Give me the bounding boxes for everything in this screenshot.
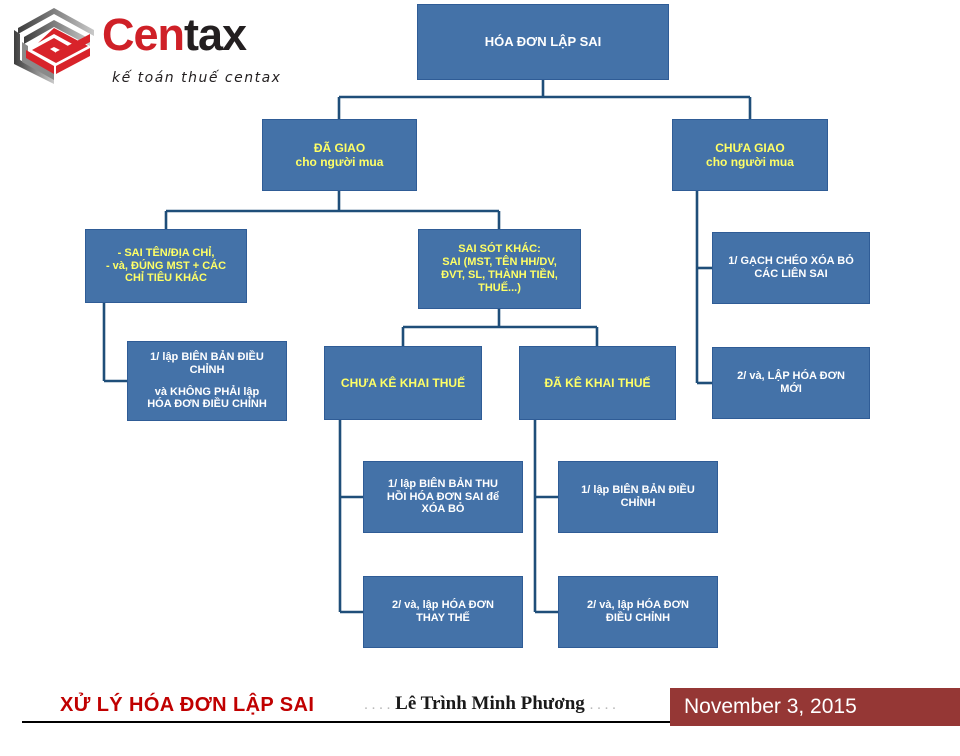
footer-title: XỬ LÝ HÓA ĐƠN LẬP SAI [60,694,314,717]
node-text-line: CHƯA GIAO [677,141,823,155]
node-text-line: HỒI HÓA ĐƠN SAI để [368,491,518,504]
node-text-line: MỚI [717,383,865,396]
node-text-line: HÓA ĐƠN ĐIỀU CHỈNH [132,398,282,411]
node-hoa-don-thay-the: 2/ và, lập HÓA ĐƠNTHAY THẾ [363,576,523,648]
node-text-line: ĐÃ KÊ KHAI THUẾ [524,376,671,390]
node-sai-ten-dia-chi: - SAI TÊN/ĐỊA CHỈ,- và, ĐÚNG MST + CÁCCH… [85,229,247,303]
node-text-line: 2/ và, lập HÓA ĐƠN [563,599,713,612]
node-text-line: ĐIỀU CHỈNH [563,612,713,625]
footer-date-badge: November 3, 2015 [670,688,960,726]
node-text-line: XÓA BỎ [368,503,518,516]
node-da-ke-khai-thue: ĐÃ KÊ KHAI THUẾ [519,346,676,420]
node-bien-ban-dieu-chinh: 1/ lập BIÊN BẢN ĐIỀUCHỈNH [558,461,718,533]
node-text-line: và KHÔNG PHẢI lập [132,386,282,399]
node-chua-giao: CHƯA GIAOcho người mua [672,119,828,191]
node-text-line: cho người mua [677,155,823,169]
node-text-line: 1/ GẠCH CHÉO XÓA BỎ [717,255,865,268]
node-text-line: THUẾ...) [423,282,576,295]
node-text-line: 2/ và, lập HÓA ĐƠN [368,599,518,612]
node-chua-ke-khai-thue: CHƯA KÊ KHAI THUẾ [324,346,482,420]
node-da-giao: ĐÃ GIAOcho người mua [262,119,417,191]
node-bien-ban-thu-hoi-hoa-don-sai: 1/ lập BIÊN BẢN THUHỒI HÓA ĐƠN SAI đểXÓA… [363,461,523,533]
node-text-line: SAI (MST, TÊN HH/DV, [423,256,576,269]
node-text-line: - và, ĐÚNG MST + CÁC [90,260,242,273]
footer-dots-left: . . . . [364,697,390,713]
node-gach-cheo-xoa-bo: 1/ GẠCH CHÉO XÓA BỎCÁC LIÊN SAI [712,232,870,304]
footer-author-name: Lê Trình Minh Phương [395,693,585,714]
node-text-line: CHỈNH [132,364,282,377]
node-text-line: 1/ lập BIÊN BẢN ĐIỀU [563,484,713,497]
node-text-line: ĐÃ GIAO [267,141,412,155]
footer-dots-right: . . . . [590,697,616,713]
node-text-line: 1/ lập BIÊN BẢN THU [368,478,518,491]
footer-author: . . . . Lê Trình Minh Phương . . . . [340,693,640,715]
node-text-line: THAY THẾ [368,612,518,625]
node-bien-ban-dieu-chinh-khong-phai-lap: 1/ lập BIÊN BẢN ĐIỀUCHỈNHvà KHÔNG PHẢI l… [127,341,287,421]
node-hoa-don-lap-sai: HÓA ĐƠN LẬP SAI [417,4,669,80]
node-text-line: 2/ và, LẬP HÓA ĐƠN [717,370,865,383]
node-text-line: ĐVT, SL, THÀNH TIỀN, [423,269,576,282]
node-text-line: HÓA ĐƠN LẬP SAI [422,34,664,49]
node-lap-hoa-don-moi: 2/ và, LẬP HÓA ĐƠNMỚI [712,347,870,419]
node-hoa-don-dieu-chinh: 2/ và, lập HÓA ĐƠNĐIỀU CHỈNH [558,576,718,648]
node-text-line: - SAI TÊN/ĐỊA CHỈ, [90,247,242,260]
node-text-line: CHƯA KÊ KHAI THUẾ [329,376,477,390]
node-text-line: SAI SÓT KHÁC: [423,243,576,256]
node-sai-sot-khac: SAI SÓT KHÁC:SAI (MST, TÊN HH/DV,ĐVT, SL… [418,229,581,309]
flowchart: HÓA ĐƠN LẬP SAIĐÃ GIAOcho người muaCHƯA … [0,0,960,680]
node-text-line: CHỈ TIÊU KHÁC [90,272,242,285]
node-text-line: 1/ lập BIÊN BẢN ĐIỀU [132,351,282,364]
node-text-line: CHỈNH [563,497,713,510]
node-text-line: CÁC LIÊN SAI [717,268,865,281]
node-text-line: cho người mua [267,155,412,169]
